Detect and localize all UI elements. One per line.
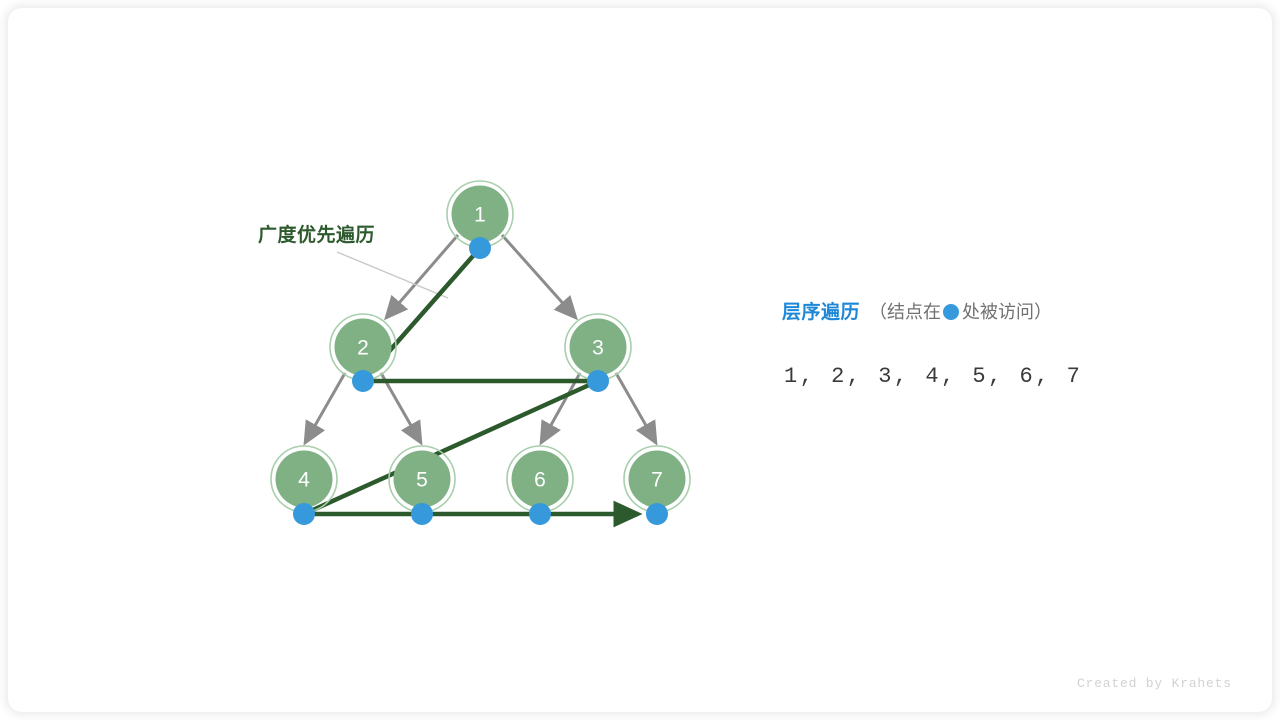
node-label: 5 — [416, 469, 428, 492]
legend-paren-open: （结点在 — [869, 302, 941, 322]
visit-dot[interactable] — [587, 370, 609, 392]
node-label: 3 — [592, 337, 604, 360]
bfs-caption-label: 广度优先遍历 — [258, 220, 375, 247]
diagram-canvas: 1 2 3 4 — [0, 0, 1280, 720]
legend-heading-line: 层序遍历（结点在处被访问） — [782, 303, 1202, 322]
legend-paren-close: 处被访问） — [962, 302, 1052, 322]
legend-block: 层序遍历（结点在处被访问） — [782, 303, 1202, 322]
visit-dot[interactable] — [529, 503, 551, 525]
credit-text: Created by Krahets — [1077, 676, 1232, 691]
visit-point-dot — [943, 304, 959, 320]
visit-dot[interactable] — [293, 503, 315, 525]
traversal-sequence-text: 1, 2, 3, 4, 5, 6, 7 — [784, 364, 1082, 389]
visit-dot[interactable] — [352, 370, 374, 392]
tree-edge-2-4 — [305, 373, 345, 443]
node-label: 1 — [474, 204, 486, 227]
legend-title: 层序遍历 — [782, 302, 860, 323]
tree-edge-3-6 — [541, 373, 580, 443]
tree-edge-2-5 — [381, 373, 421, 443]
node-label: 2 — [357, 337, 369, 360]
tree-edge-1-3 — [502, 235, 576, 318]
node-label: 7 — [651, 469, 663, 492]
tree-edge-3-7 — [616, 373, 656, 443]
caption-leader-line — [337, 252, 448, 298]
visit-dot[interactable] — [646, 503, 668, 525]
node-label: 4 — [298, 469, 310, 492]
tree-node-1[interactable]: 1 — [447, 181, 513, 259]
visit-dot[interactable] — [411, 503, 433, 525]
visit-dot[interactable] — [469, 237, 491, 259]
tree-diagram: 1 2 3 4 — [0, 0, 1280, 720]
node-label: 6 — [534, 469, 546, 492]
